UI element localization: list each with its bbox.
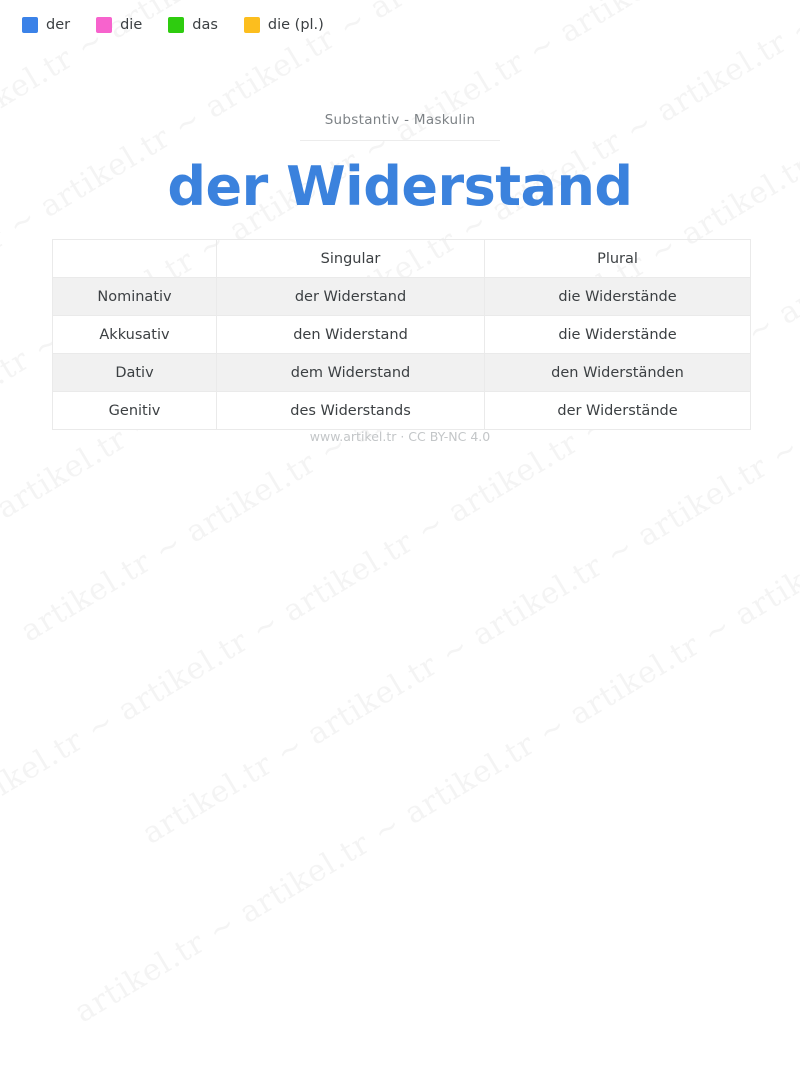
table-body: Nominativder Widerstanddie WiderständeAk… xyxy=(53,278,751,430)
declension-card: derdiedasdie (pl.) Substantiv - Maskulin… xyxy=(0,0,800,533)
page-title: der Widerstand xyxy=(0,157,800,217)
cell-case-name: Dativ xyxy=(53,354,217,392)
color-swatch-icon xyxy=(244,17,260,33)
color-swatch-icon xyxy=(96,17,112,33)
legend-item-label: die xyxy=(120,17,142,33)
cell-singular: den Widerstand xyxy=(217,316,485,354)
footer-attribution: www.artikel.tr · CC BY-NC 4.0 xyxy=(0,429,800,444)
table-header: Singular Plural xyxy=(53,240,751,278)
cell-plural: den Widerständen xyxy=(485,354,751,392)
cell-case-name: Genitiv xyxy=(53,392,217,430)
legend-item-die: die xyxy=(96,17,142,33)
column-header-plural: Plural xyxy=(485,240,751,278)
legend-item-der: der xyxy=(22,17,70,33)
cell-singular: des Widerstands xyxy=(217,392,485,430)
table-row: Nominativder Widerstanddie Widerstände xyxy=(53,278,751,316)
color-swatch-icon xyxy=(168,17,184,33)
color-swatch-icon xyxy=(22,17,38,33)
cell-singular: dem Widerstand xyxy=(217,354,485,392)
legend-item-label: das xyxy=(192,17,218,33)
column-header-singular: Singular xyxy=(217,240,485,278)
legend-item-label: die (pl.) xyxy=(268,17,324,33)
cell-case-name: Akkusativ xyxy=(53,316,217,354)
legend-item-das: das xyxy=(168,17,218,33)
table-header-row: Singular Plural xyxy=(53,240,751,278)
legend-item-diepl-plural: die (pl.) xyxy=(244,17,324,33)
cell-plural: die Widerstände xyxy=(485,316,751,354)
article-color-legend: derdiedasdie (pl.) xyxy=(22,17,324,33)
legend-item-label: der xyxy=(46,17,70,33)
part-of-speech-label: Substantiv - Maskulin xyxy=(0,112,800,128)
table-row: Genitivdes Widerstandsder Widerstände xyxy=(53,392,751,430)
cell-singular: der Widerstand xyxy=(217,278,485,316)
cell-case-name: Nominativ xyxy=(53,278,217,316)
declension-table: Singular Plural Nominativder Widerstandd… xyxy=(52,239,751,430)
cell-plural: der Widerstände xyxy=(485,392,751,430)
word-header: Substantiv - Maskulin der Widerstand xyxy=(0,112,800,217)
column-header-case xyxy=(53,240,217,278)
table-row: Akkusativden Widerstanddie Widerstände xyxy=(53,316,751,354)
table-row: Dativdem Widerstandden Widerständen xyxy=(53,354,751,392)
cell-plural: die Widerstände xyxy=(485,278,751,316)
header-divider xyxy=(300,140,500,141)
